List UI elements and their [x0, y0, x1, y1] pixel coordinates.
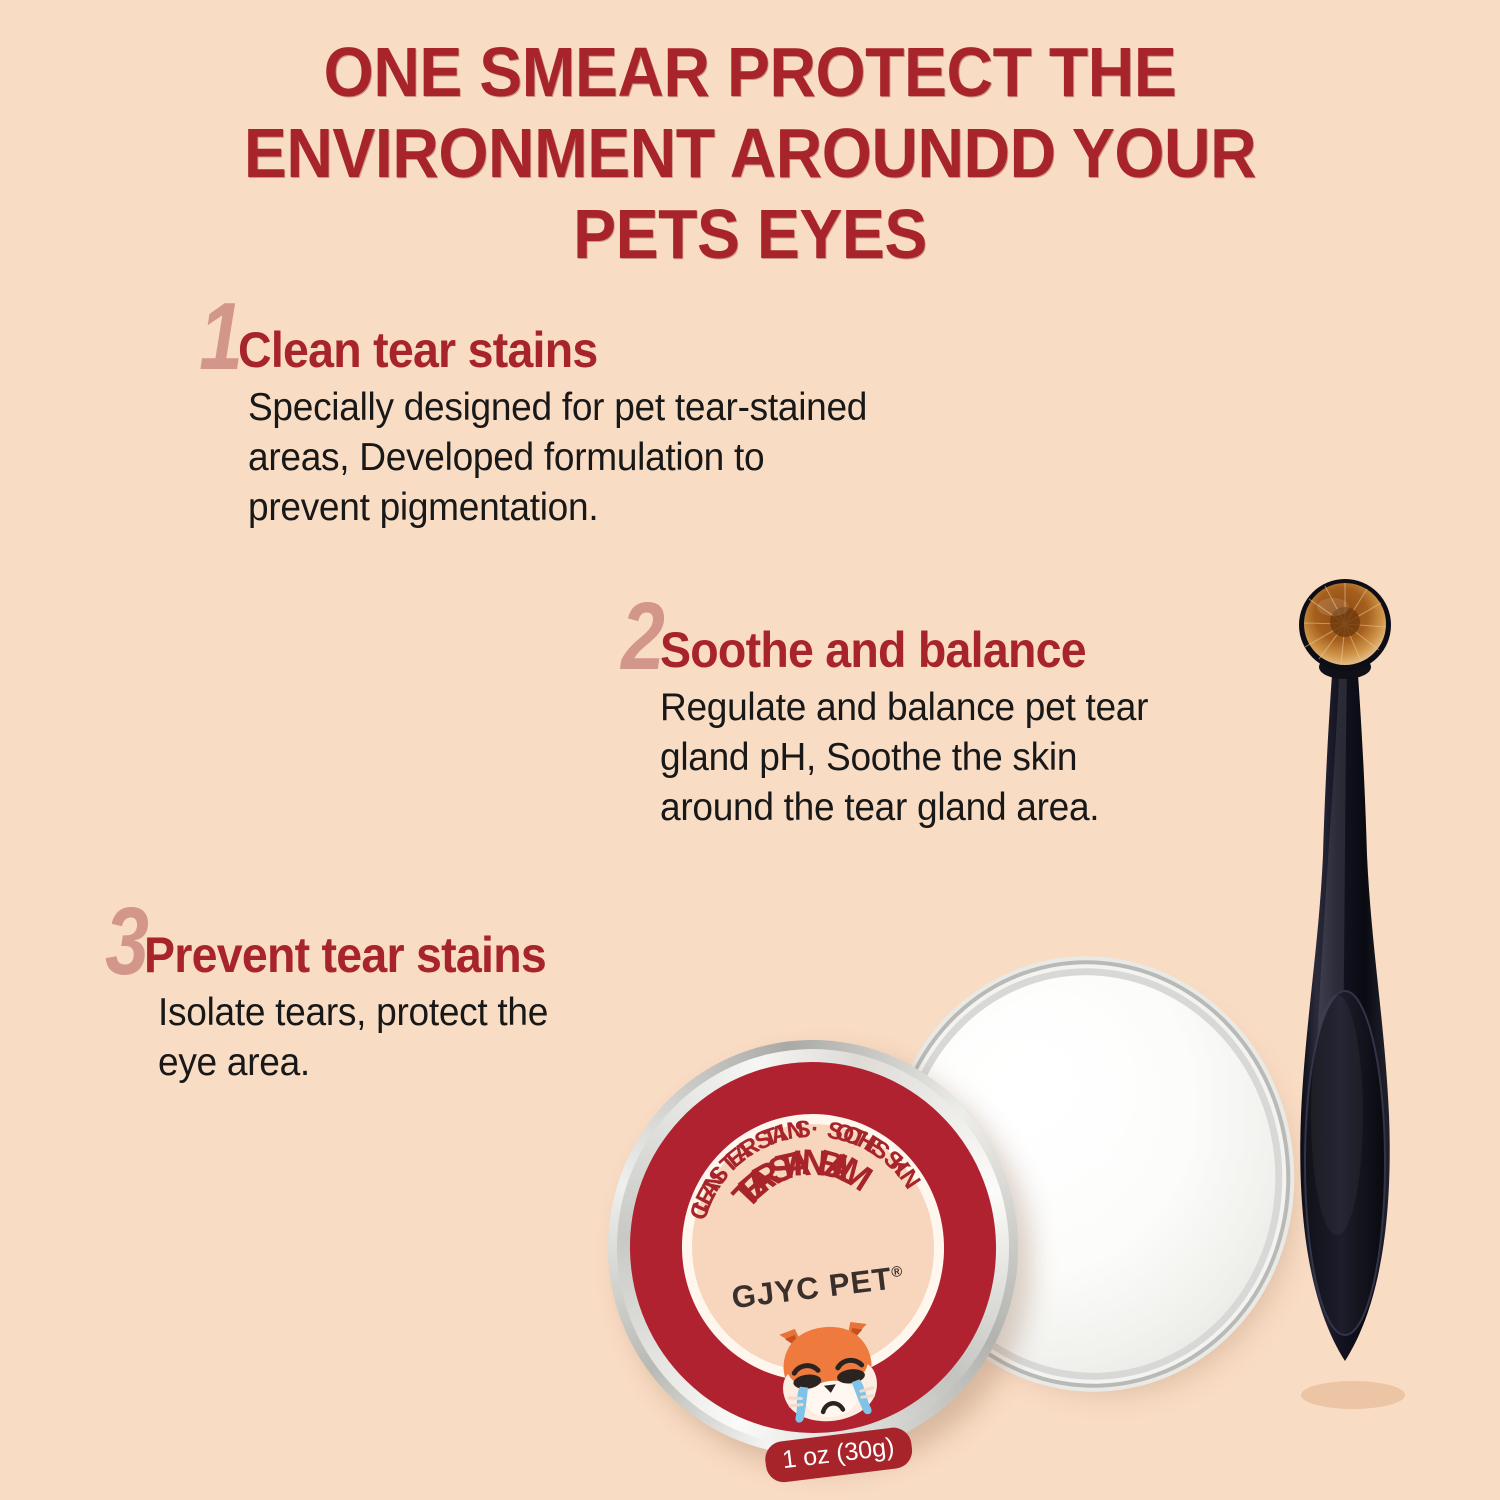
infographic-canvas: ONE SMEAR PROTECT THE ENVIRONMENT AROUND…	[0, 0, 1500, 1500]
step-1-body: Specially designed for pet tear-stained …	[248, 383, 867, 533]
lid-label-face: TEAR STAIN BALM GJYC PET®	[678, 1110, 948, 1385]
brush-grip-sheen	[1311, 995, 1363, 1235]
step-1-number: 1	[199, 300, 240, 375]
step-3-body: Isolate tears, protect the eye area.	[158, 988, 556, 1088]
feature-step-3: 3 Prevent tear stains Isolate tears, pro…	[96, 905, 577, 1088]
step-1-header: 1 Clean tear stains	[190, 300, 900, 375]
step-1-body-line-2: areas, Developed formulation to	[248, 433, 867, 483]
step-2-body-line-1: Regulate and balance pet tear	[660, 683, 1148, 733]
brush-shadow	[1301, 1381, 1405, 1409]
feature-step-1: 1 Clean tear stains Specially designed f…	[190, 300, 900, 533]
headline-line-1: ONE SMEAR PROTECT THE	[170, 32, 1329, 113]
step-1-body-line-1: Specially designed for pet tear-stained	[248, 383, 867, 433]
label-arc-bottom-text: CLEANS TEAR STAINS · SOOTHES SKIN	[678, 1110, 948, 1385]
step-2-body-line-2: gland pH, Soothe the skin	[660, 733, 1148, 783]
step-2-body: Regulate and balance pet tear gland pH, …	[660, 683, 1148, 833]
step-3-body-line-1: Isolate tears, protect the	[158, 988, 556, 1038]
step-3-title: Prevent tear stains	[144, 932, 546, 980]
brush-head-highlight	[1317, 598, 1349, 616]
feature-step-2: 2 Soothe and balance Regulate and balanc…	[612, 600, 1174, 833]
step-2-number: 2	[621, 600, 662, 675]
step-2-body-line-3: around the tear gland area.	[660, 783, 1148, 833]
step-2-title: Soothe and balance	[660, 627, 1086, 675]
step-3-body-line-2: eye area.	[158, 1038, 556, 1088]
arc-bottom-char	[803, 1115, 810, 1143]
step-1-body-line-3: prevent pigmentation.	[248, 483, 867, 533]
headline-line-3: PETS EYES	[170, 194, 1329, 275]
headline-line-2: ENVIRONMENT AROUNDD YOUR	[170, 113, 1329, 194]
page-title: ONE SMEAR PROTECT THE ENVIRONMENT AROUND…	[170, 32, 1329, 276]
step-2-header: 2 Soothe and balance	[612, 600, 1174, 675]
step-1-title: Clean tear stains	[238, 327, 598, 375]
oval-brush-applicator	[1255, 575, 1445, 1415]
step-3-header: 3 Prevent tear stains	[96, 905, 577, 980]
step-3-number: 3	[105, 905, 146, 980]
